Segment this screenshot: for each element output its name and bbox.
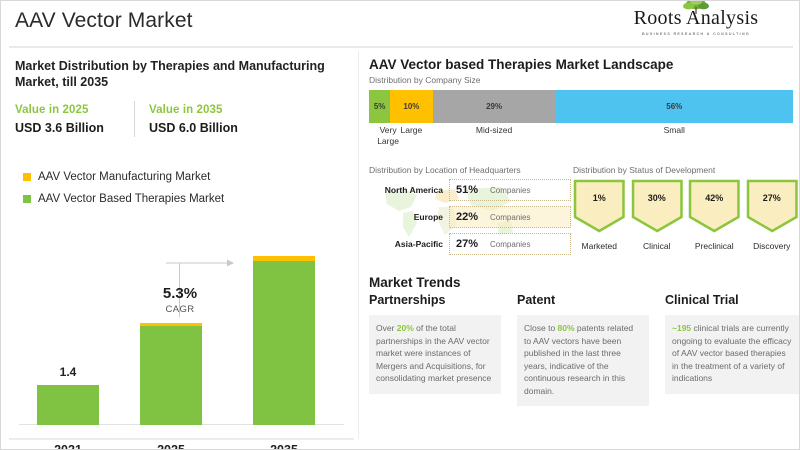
trend-column-partnerships: Partnerships Over 20% of the total partn…	[369, 293, 501, 394]
bar-value-2021: 1.4	[37, 365, 99, 379]
chart-legend: AAV Vector Manufacturing Market AAV Vect…	[23, 171, 224, 215]
development-label-marketed: Marketed	[573, 241, 626, 251]
development-shield-preclinical: 42%	[688, 179, 741, 233]
value-divider	[134, 101, 135, 137]
headquarters-value-box: 22%Companies	[449, 206, 571, 228]
headquarters-percentage: 27%	[456, 238, 478, 250]
bar-xlabel-2021: 2021	[37, 443, 99, 450]
legend-swatch-manufacturing	[23, 173, 31, 181]
company-size-segment-mid-sized: 29%	[433, 90, 556, 123]
left-panel-subtitle: Market Distribution by Therapies and Man…	[15, 58, 335, 90]
company-size-stacked-bar: 5%10%29%56%	[369, 90, 793, 123]
development-shields: 1%30%42%27%	[573, 179, 798, 239]
logo-wordmark: Roots Analysis	[634, 5, 759, 31]
development-percentage-marketed: 1%	[573, 193, 626, 203]
headquarters-region-label: Asia-Pacific	[369, 239, 449, 249]
trend-highlight-partnerships: 20%	[397, 323, 414, 333]
company-size-label-mid-sized: Mid-sized	[433, 125, 556, 136]
value-card-2025-amount: USD 3.6 Billion	[15, 121, 104, 135]
trend-highlight-clinical-trial: ~195	[672, 323, 691, 333]
company-size-segment-very-large: 5%	[369, 90, 390, 123]
shield-icon	[573, 179, 626, 233]
development-shield-marketed: 1%	[573, 179, 626, 233]
headquarters-row: North America51%Companies	[369, 179, 571, 201]
left-panel: Market Distribution by Therapies and Man…	[1, 49, 358, 449]
trend-title-clinical-trial: Clinical Trial	[665, 293, 800, 307]
headquarters-section: Distribution by Location of Headquarters…	[369, 165, 571, 265]
bar-xlabel-2025: 2025	[140, 443, 202, 450]
bar-segment-therapies-2035	[253, 261, 315, 425]
value-card-2035: Value in 2035 USD 6.0 Billion	[149, 104, 238, 135]
development-shield-discovery: 27%	[746, 179, 799, 233]
headquarters-caption: Distribution by Location of Headquarters	[369, 165, 571, 175]
value-card-2035-amount: USD 6.0 Billion	[149, 121, 238, 135]
brand-logo: Roots Analysis BUSINESS RESEARCH & CONSU…	[607, 5, 785, 43]
development-label-preclinical: Preclinical	[688, 241, 741, 251]
value-card-2025: Value in 2025 USD 3.6 Billion	[15, 104, 104, 135]
bar-2025: 2025	[140, 323, 202, 425]
headquarters-percentage: 22%	[456, 211, 478, 223]
development-percentage-preclinical: 42%	[688, 193, 741, 203]
headquarters-percentage: 51%	[456, 184, 478, 196]
panel-divider	[358, 51, 359, 439]
headquarters-value-box: 27%Companies	[449, 233, 571, 255]
shield-icon	[688, 179, 741, 233]
cagr-arrow-icon	[165, 257, 235, 269]
bar-2035: 2035	[253, 256, 315, 425]
bar-xlabel-2035: 2035	[253, 443, 315, 450]
legend-item-manufacturing: AAV Vector Manufacturing Market	[23, 171, 224, 183]
trend-body-patent: Close to 80% patents related to AAV vect…	[517, 315, 649, 406]
bar-chart: 1.4202120252035 5.3% CAGR	[15, 227, 350, 450]
right-panel-title: AAV Vector based Therapies Market Landsc…	[369, 57, 673, 72]
legend-label-manufacturing: AAV Vector Manufacturing Market	[38, 171, 210, 183]
trend-body-clinical-trial: ~195 clinical trials are currently ongoi…	[665, 315, 800, 394]
right-panel: AAV Vector based Therapies Market Landsc…	[361, 49, 800, 449]
development-label-clinical: Clinical	[631, 241, 684, 251]
market-trends-section: Market Trends Partnerships Over 20% of t…	[369, 275, 800, 447]
infographic-page: AAV Vector Market Roots Analysis BUSINES…	[0, 0, 800, 450]
bar-2021: 1.42021	[37, 385, 99, 425]
header-divider	[9, 46, 793, 48]
company-size-label-large: Large	[390, 125, 432, 136]
trend-column-clinical-trial: Clinical Trial ~195 clinical trials are …	[665, 293, 800, 394]
bar-segment-therapies-2025	[140, 326, 202, 425]
shield-icon	[746, 179, 799, 233]
cagr-annotation: 5.3% CAGR	[138, 285, 222, 315]
cagr-label: CAGR	[138, 304, 222, 315]
headquarters-row: Asia-Pacific27%Companies	[369, 233, 571, 255]
legend-swatch-therapies	[23, 195, 31, 203]
value-card-2035-label: Value in 2035	[149, 104, 238, 116]
development-percentage-discovery: 27%	[746, 193, 799, 203]
trend-title-patent: Patent	[517, 293, 649, 307]
development-caption: Distribution by Status of Development	[573, 165, 798, 175]
headquarters-unit-label: Companies	[490, 240, 530, 249]
logo-tagline: BUSINESS RESEARCH & CONSULTING	[607, 32, 785, 36]
development-shield-labels: MarketedClinicalPreclinicalDiscovery	[573, 241, 798, 251]
company-size-labels: Very LargeLargeMid-sizedSmall	[369, 125, 793, 151]
value-card-2025-label: Value in 2025	[15, 104, 104, 116]
company-size-segment-small: 56%	[556, 90, 793, 123]
legend-item-therapies: AAV Vector Based Therapies Market	[23, 193, 224, 205]
market-trends-heading: Market Trends	[369, 275, 800, 290]
development-section: Distribution by Status of Development 1%…	[573, 165, 798, 265]
headquarters-row: Europe22%Companies	[369, 206, 571, 228]
trend-body-partnerships: Over 20% of the total partnerships in th…	[369, 315, 501, 394]
headquarters-unit-label: Companies	[490, 186, 530, 195]
development-shield-clinical: 30%	[631, 179, 684, 233]
trend-highlight-patent: 80%	[558, 323, 575, 333]
bar-segment-therapies-2021	[37, 385, 99, 425]
shield-icon	[631, 179, 684, 233]
headquarters-region-label: Europe	[369, 212, 449, 222]
page-title: AAV Vector Market	[15, 9, 193, 33]
legend-label-therapies: AAV Vector Based Therapies Market	[38, 193, 224, 205]
company-size-segment-large: 10%	[390, 90, 432, 123]
company-size-caption: Distribution by Company Size	[369, 75, 481, 85]
development-percentage-clinical: 30%	[631, 193, 684, 203]
headquarters-value-box: 51%Companies	[449, 179, 571, 201]
trend-title-partnerships: Partnerships	[369, 293, 501, 307]
tree-icon	[679, 0, 713, 14]
development-label-discovery: Discovery	[746, 241, 799, 251]
company-size-label-small: Small	[556, 125, 793, 136]
cagr-value: 5.3%	[138, 285, 222, 302]
headquarters-unit-label: Companies	[490, 213, 530, 222]
trend-column-patent: Patent Close to 80% patents related to A…	[517, 293, 649, 406]
header: AAV Vector Market Roots Analysis BUSINES…	[1, 1, 800, 46]
headquarters-region-label: North America	[369, 185, 449, 195]
